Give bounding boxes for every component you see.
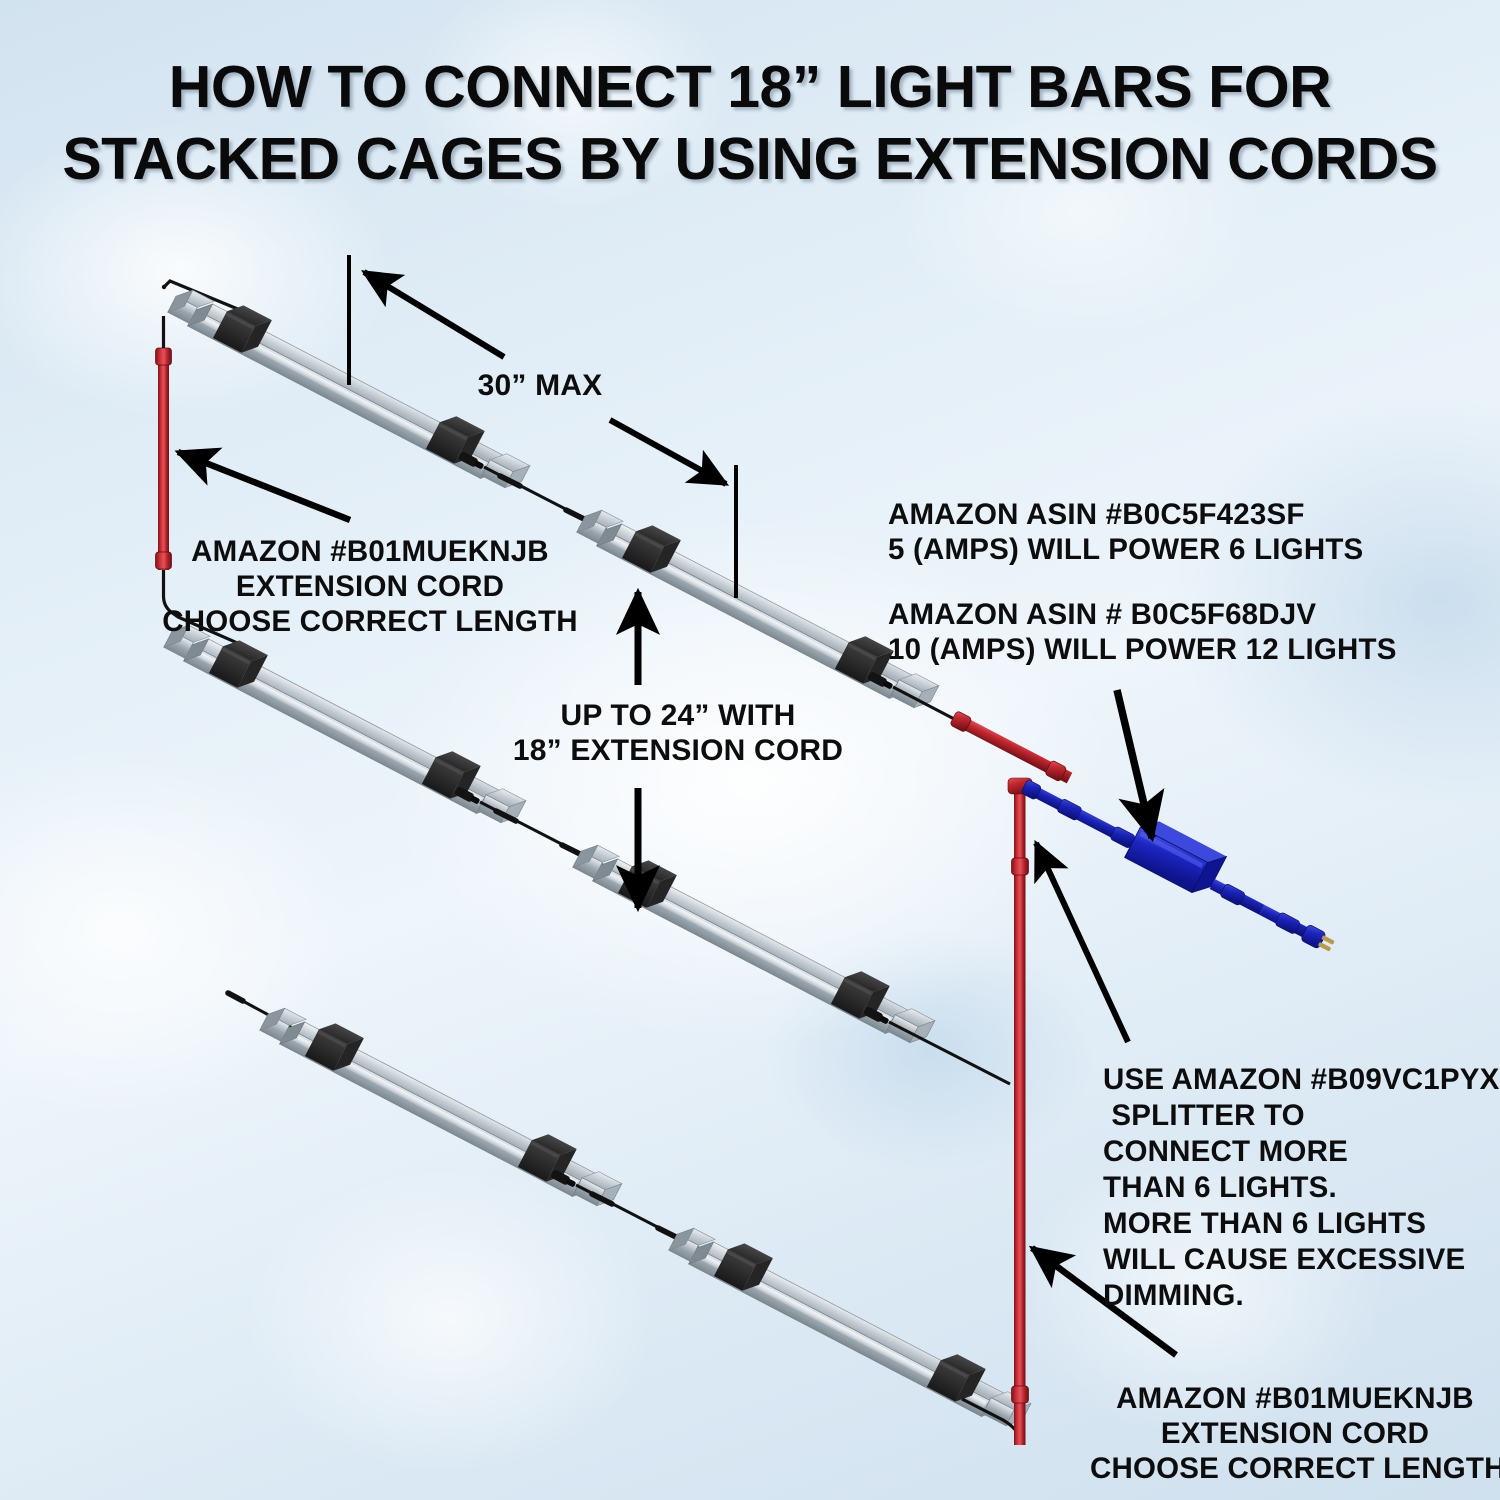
infographic-canvas: HOW TO CONNECT 18” LIGHT BARS FOR STACKE… [0,0,1500,1500]
page-title: HOW TO CONNECT 18” LIGHT BARS FOR STACKE… [0,52,1500,196]
extension-cord-right [950,711,1074,1445]
leader-arrow-power-adapter [1117,690,1152,838]
leader-arrow-left-extension-cord [178,452,350,520]
annotation-left-extension-cord: AMAZON #B01MUEKNJB EXTENSION CORD CHOOSE… [150,535,590,639]
light-bar-6 [667,1214,1035,1434]
annotation-power-supply-5a: AMAZON ASIN #B0C5F423SF 5 (AMPS) WILL PO… [888,498,1488,568]
annotation-splitter: USE AMAZON #B09VC1PYXQ SPLITTER TO CONNE… [1103,1062,1500,1314]
dimension-label-up-to-24: UP TO 24” WITH 18” EXTENSION CORD [478,698,878,769]
annotation-right-extension-cord: AMAZON #B01MUEKNJB EXTENSION CORD CHOOSE… [1090,1382,1500,1486]
power-adapter [1016,759,1346,962]
dimension-label-30-max: 30” MAX [420,368,660,403]
annotation-power-supply-10a: AMAZON ASIN # B0C5F68DJV 10 (AMPS) WILL … [888,598,1488,668]
leader-arrow-splitter [1036,843,1128,1042]
